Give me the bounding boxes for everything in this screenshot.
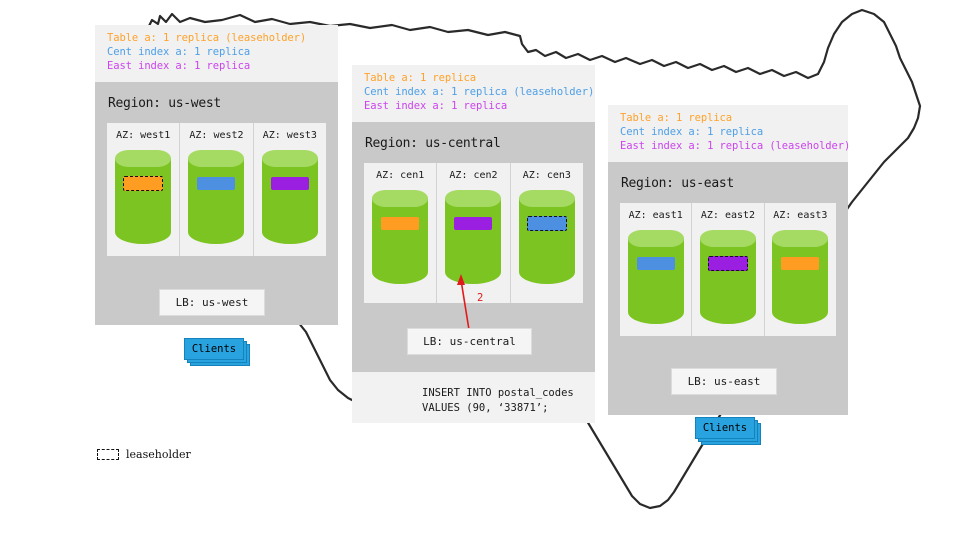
cylinder-body	[772, 238, 828, 324]
db-cylinder[interactable]	[519, 190, 575, 284]
replica-line-cent: Cent index a: 1 replica (leaseholder)	[364, 86, 583, 100]
az-cell-east1[interactable]: AZ: east1	[620, 203, 692, 336]
replica-band	[637, 257, 675, 270]
az-label: AZ: west3	[263, 130, 317, 141]
load-balancer-us-central[interactable]: LB: us-central	[407, 328, 532, 355]
az-label: AZ: cen3	[523, 170, 571, 181]
az-group-us-east: AZ: east1 AZ: east2 AZ	[620, 203, 836, 336]
replica-band-leaseholder	[527, 216, 567, 231]
clients-label: Clients	[695, 417, 755, 439]
cylinder-body	[700, 238, 756, 324]
cylinder-body	[628, 238, 684, 324]
cylinder-top	[262, 150, 318, 167]
az-label: AZ: cen1	[376, 170, 424, 181]
region-panel-us-west: Table a: 1 replica (leaseholder) Cent in…	[95, 25, 338, 325]
az-cell-east2[interactable]: AZ: east2	[692, 203, 764, 336]
db-cylinder[interactable]	[188, 150, 244, 244]
az-cell-east3[interactable]: AZ: east3	[765, 203, 836, 336]
legend-label: leaseholder	[126, 448, 191, 461]
replica-band	[454, 217, 492, 230]
cylinder-top	[115, 150, 171, 167]
replica-line-cent: Cent index a: 1 replica	[107, 46, 326, 60]
panel-body-us-central: Region: us-central AZ: cen1 AZ: cen2	[352, 122, 595, 375]
panel-header-us-central: Table a: 1 replica Cent index a: 1 repli…	[352, 65, 595, 122]
diagram-canvas: Table a: 1 replica (leaseholder) Cent in…	[0, 0, 960, 540]
cylinder-body	[519, 198, 575, 284]
db-cylinder[interactable]	[700, 230, 756, 324]
region-title-us-west: Region: us-west	[108, 96, 326, 111]
panel-body-us-east: Region: us-east AZ: east1 AZ: east2	[608, 162, 848, 415]
replica-band	[781, 257, 819, 270]
clients-stack-us-west[interactable]: Clients	[184, 338, 250, 364]
cylinder-top	[772, 230, 828, 247]
load-balancer-us-west[interactable]: LB: us-west	[159, 289, 265, 316]
replica-line-cent: Cent index a: 1 replica	[620, 126, 836, 140]
replica-line-east: East index a: 1 replica	[107, 60, 326, 74]
replica-band	[271, 177, 309, 190]
replica-line-east: East index a: 1 replica (leaseholder)	[620, 140, 836, 154]
cylinder-body	[445, 198, 501, 284]
panel-header-us-east: Table a: 1 replica Cent index a: 1 repli…	[608, 105, 848, 162]
replica-line-table: Table a: 1 replica	[620, 112, 836, 126]
az-cell-cen1[interactable]: AZ: cen1	[364, 163, 437, 303]
az-label: AZ: west1	[116, 130, 170, 141]
cylinder-body	[372, 198, 428, 284]
cylinder-top	[445, 190, 501, 207]
cylinder-body	[188, 158, 244, 244]
az-cell-west1[interactable]: AZ: west1	[107, 123, 180, 256]
cylinder-body	[115, 158, 171, 244]
cylinder-body	[262, 158, 318, 244]
az-label: AZ: east2	[701, 210, 755, 221]
cylinder-top	[700, 230, 756, 247]
clients-label: Clients	[184, 338, 244, 360]
legend-leaseholder: leaseholder	[97, 448, 191, 461]
az-label: AZ: east3	[773, 210, 827, 221]
replica-line-east: East index a: 1 replica	[364, 100, 583, 114]
az-label: AZ: cen2	[449, 170, 497, 181]
az-cell-west2[interactable]: AZ: west2	[180, 123, 253, 256]
cylinder-top	[628, 230, 684, 247]
db-cylinder[interactable]	[262, 150, 318, 244]
sql-statement: INSERT INTO postal_codes VALUES (90, ‘33…	[352, 372, 595, 423]
az-label: AZ: east1	[629, 210, 683, 221]
db-cylinder[interactable]	[115, 150, 171, 244]
clients-stack-us-east[interactable]: Clients	[695, 417, 761, 443]
region-panel-us-east: Table a: 1 replica Cent index a: 1 repli…	[608, 105, 848, 415]
az-cell-west3[interactable]: AZ: west3	[254, 123, 326, 256]
replica-band-leaseholder	[123, 176, 163, 191]
cylinder-top	[372, 190, 428, 207]
az-cell-cen3[interactable]: AZ: cen3	[511, 163, 583, 303]
panel-header-us-west: Table a: 1 replica (leaseholder) Cent in…	[95, 25, 338, 82]
region-title-us-central: Region: us-central	[365, 136, 583, 151]
db-cylinder[interactable]	[628, 230, 684, 324]
panel-body-us-west: Region: us-west AZ: west1 AZ: west2	[95, 82, 338, 325]
replica-band	[197, 177, 235, 190]
az-group-us-west: AZ: west1 AZ: west2 AZ	[107, 123, 326, 256]
region-title-us-east: Region: us-east	[621, 176, 836, 191]
cylinder-top	[519, 190, 575, 207]
db-cylinder[interactable]	[445, 190, 501, 284]
leaseholder-swatch-icon	[97, 449, 119, 460]
db-cylinder[interactable]	[772, 230, 828, 324]
replica-line-table: Table a: 1 replica	[364, 72, 583, 86]
replica-band	[381, 217, 419, 230]
load-balancer-us-east[interactable]: LB: us-east	[671, 368, 777, 395]
az-label: AZ: west2	[189, 130, 243, 141]
arrow-label-2: 2	[477, 292, 483, 304]
replica-band-leaseholder	[708, 256, 748, 271]
replica-line-table: Table a: 1 replica (leaseholder)	[107, 32, 326, 46]
region-panel-us-central: Table a: 1 replica Cent index a: 1 repli…	[352, 65, 595, 375]
db-cylinder[interactable]	[372, 190, 428, 284]
cylinder-top	[188, 150, 244, 167]
